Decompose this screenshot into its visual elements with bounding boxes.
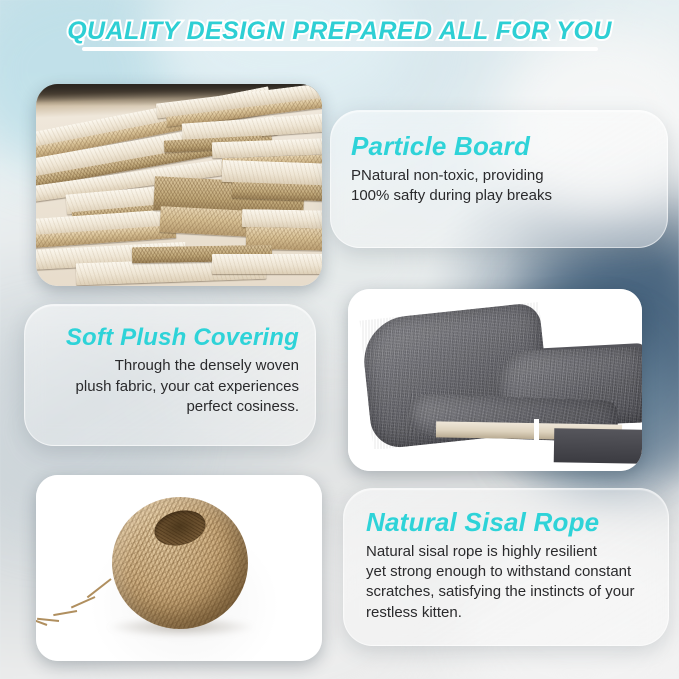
feature-card-natural-sisal-rope: Natural Sisal Rope Natural sisal rope is…	[343, 488, 669, 646]
feature-title: Soft Plush Covering	[41, 325, 299, 350]
plush-base-shadow	[554, 428, 642, 464]
title-underline	[82, 47, 598, 51]
feature-title: Particle Board	[351, 133, 645, 160]
plush-fabric-photo	[348, 289, 642, 471]
feature-description: PNatural non-toxic, providing 100% safty…	[351, 166, 645, 205]
particle-board-photo	[36, 84, 322, 286]
page-title: QUALITY DESIGN PREPARED ALL FOR YOU	[67, 18, 612, 44]
sisal-rope-illustration	[36, 475, 322, 661]
board-plank	[242, 209, 322, 229]
feature-title: Natural Sisal Rope	[366, 509, 650, 536]
feature-card-soft-plush-covering: Soft Plush Covering Through the densely …	[24, 304, 316, 446]
feature-description: Natural sisal rope is highly resilient y…	[366, 542, 650, 622]
feature-card-particle-board: Particle Board PNatural non-toxic, provi…	[330, 110, 668, 248]
plush-fabric-illustration	[348, 289, 642, 471]
sisal-rope-photo	[36, 475, 322, 661]
plush-gap-highlight	[348, 449, 498, 471]
poster-header: QUALITY DESIGN PREPARED ALL FOR YOU	[0, 18, 679, 51]
board-plank	[212, 254, 322, 274]
plush-gap-highlight	[498, 447, 544, 471]
rope-center-hole	[151, 505, 210, 551]
particle-board-illustration	[36, 84, 322, 286]
feature-description: Through the densely woven plush fabric, …	[41, 356, 299, 417]
rope-ball	[112, 497, 248, 629]
infographic-poster: QUALITY DESIGN PREPARED ALL FOR YOU	[0, 0, 679, 679]
